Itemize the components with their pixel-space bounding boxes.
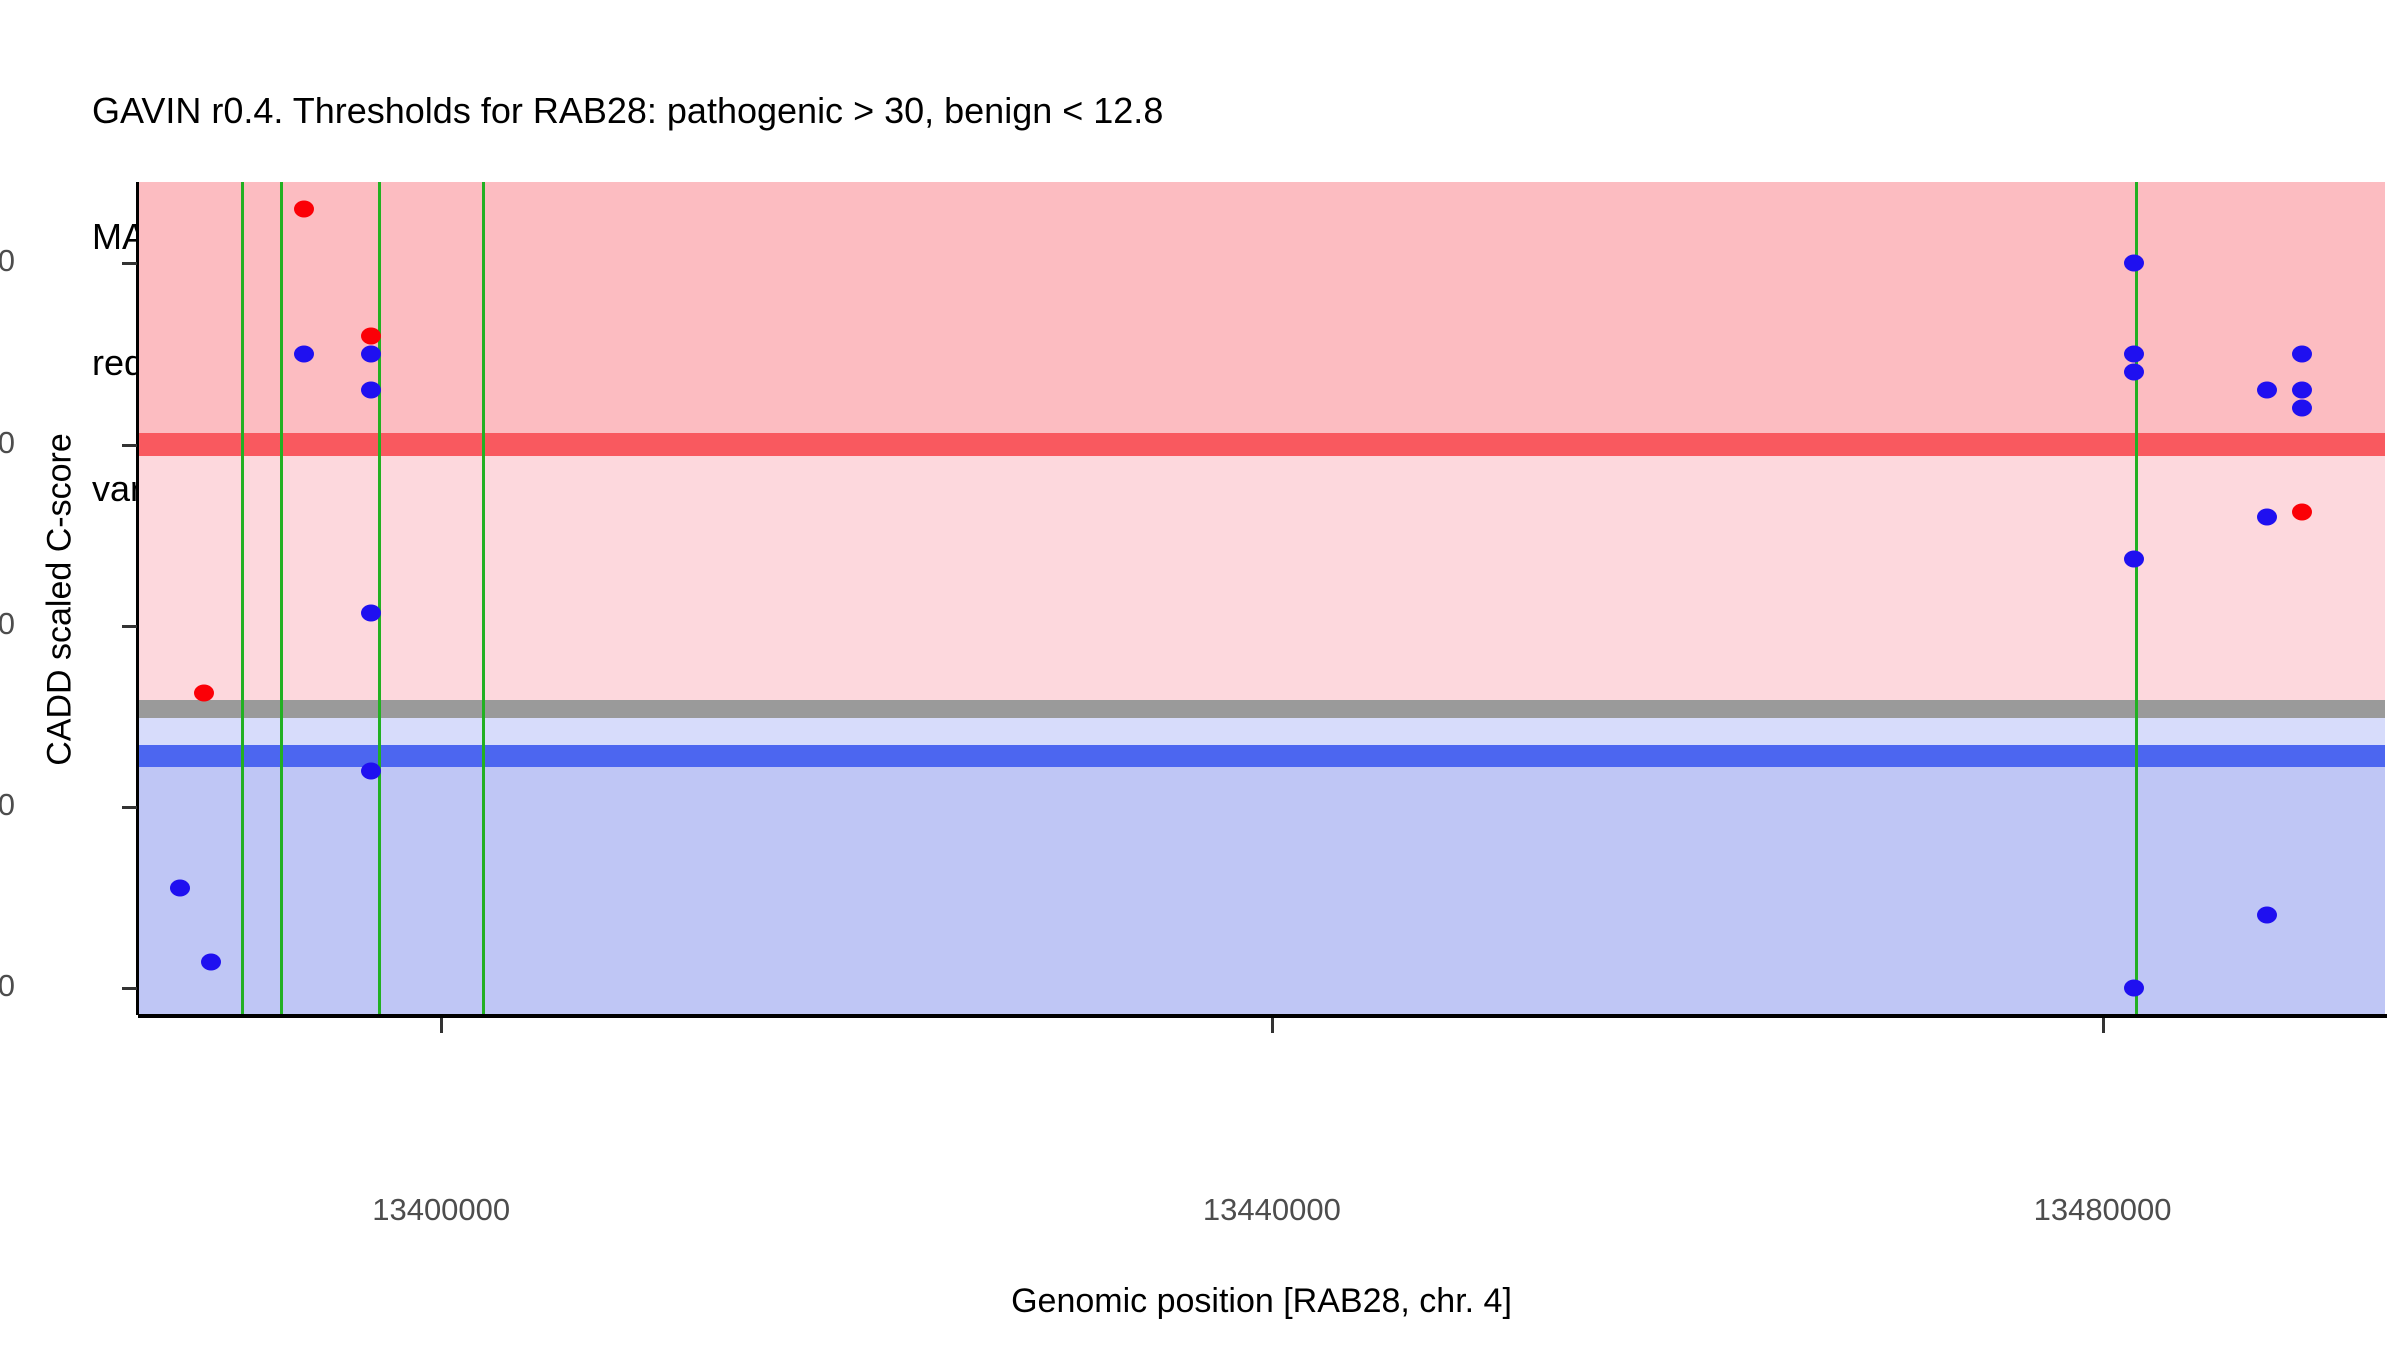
pathogenic-threshold-line — [138, 433, 2385, 457]
pathogenic-variant-point[interactable] — [194, 684, 214, 701]
x-axis-tick-label: 13480000 — [2034, 1192, 2172, 1228]
y-axis-tick — [122, 987, 137, 990]
y-axis-tick — [122, 262, 137, 265]
gnomad-variant-point[interactable] — [2292, 382, 2312, 399]
gnomad-variant-point[interactable] — [2124, 979, 2144, 996]
pathogenic-variant-point[interactable] — [294, 201, 314, 218]
x-axis-tick — [440, 1018, 443, 1033]
exon-line — [280, 182, 283, 1015]
gnomad-variant-point[interactable] — [361, 382, 381, 399]
y-axis-tick-label: 30 — [0, 425, 15, 461]
exon-line — [482, 182, 485, 1015]
gnomad-variant-point[interactable] — [2124, 550, 2144, 567]
y-axis-line — [136, 182, 139, 1015]
gnomad-variant-point[interactable] — [2292, 400, 2312, 417]
pathogenic-region — [138, 182, 2385, 445]
gnomad-variant-point[interactable] — [2124, 364, 2144, 381]
gnomad-variant-point[interactable] — [2292, 346, 2312, 363]
pathogenic-variant-point[interactable] — [2292, 503, 2312, 520]
benign-threshold-line — [138, 745, 2385, 767]
gnomad-variant-point[interactable] — [294, 346, 314, 363]
x-axis-tick — [1271, 1018, 1274, 1033]
y-axis-title: CADD scaled C-score — [41, 200, 80, 1000]
y-axis-tick — [122, 444, 137, 447]
gnomad-variant-point[interactable] — [2257, 907, 2277, 924]
exon-line — [241, 182, 244, 1015]
y-axis-tick — [122, 806, 137, 809]
benign-region — [138, 756, 2385, 1015]
gnomad-variant-point[interactable] — [361, 604, 381, 621]
exon-line — [378, 182, 381, 1015]
x-axis-tick — [2102, 1018, 2105, 1033]
gnomad-variant-point[interactable] — [2124, 346, 2144, 363]
chart-root: GAVIN r0.4. Thresholds for RAB28: pathog… — [0, 0, 2400, 1350]
x-axis-tick-label: 13440000 — [1203, 1192, 1341, 1228]
y-axis-tick — [122, 625, 137, 628]
gnomad-variant-point[interactable] — [361, 762, 381, 779]
gnomad-variant-point[interactable] — [361, 346, 381, 363]
gnomad-variant-point[interactable] — [201, 954, 221, 971]
title-line-1: GAVIN r0.4. Thresholds for RAB28: pathog… — [92, 90, 2342, 132]
gnomad-variant-point[interactable] — [2124, 255, 2144, 272]
plot-panel — [138, 182, 2385, 1015]
pathogenic-variant-point[interactable] — [361, 327, 381, 344]
y-axis-tick-label: 20 — [0, 606, 15, 642]
y-axis-tick-label: 10 — [0, 787, 15, 823]
gnomad-variant-point[interactable] — [2257, 382, 2277, 399]
exon-line — [2135, 182, 2138, 1015]
fallback-threshold-line — [138, 700, 2385, 718]
x-axis-line — [138, 1014, 2387, 1018]
y-axis-tick-label: 40 — [0, 243, 15, 279]
gnomad-variant-point[interactable] — [170, 880, 190, 897]
x-axis-title: Genomic position [RAB28, chr. 4] — [138, 1282, 2385, 1321]
x-axis-tick-label: 13400000 — [372, 1192, 510, 1228]
y-axis-tick-label: 0 — [0, 968, 15, 1004]
gnomad-variant-point[interactable] — [2257, 509, 2277, 526]
